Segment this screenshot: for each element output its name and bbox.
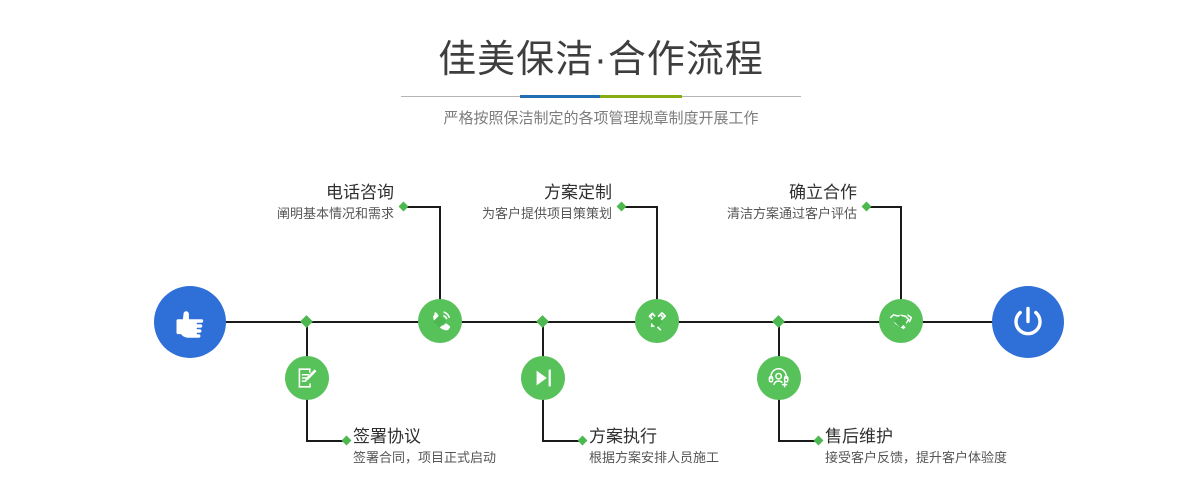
step-label-phone-consultation: 电话咨询 阐明基本情况和需求 [140,182,394,224]
step-desc: 根据方案安排人员施工 [589,448,719,468]
divider-segment-green [600,95,682,98]
process-timeline: 电话咨询 阐明基本情况和需求 签署协议 签署合同，项目正式启动 [0,150,1202,502]
step-label-after-sales: 售后维护 接受客户反馈，提升客户体验度 [825,426,1007,468]
step-label-establish-cooperation: 确立合作 清洁方案通过客户评估 [603,182,857,224]
step-title: 确立合作 [603,182,857,204]
power-icon [1007,301,1049,343]
cooperation-process-infographic: 佳美保洁·合作流程 严格按照保洁制定的各项管理规章制度开展工作 [0,0,1202,502]
step-title: 签署协议 [353,426,496,448]
step-label-plan-execution: 方案执行 根据方案安排人员施工 [589,426,719,468]
step-icon-after-sales[interactable] [757,356,801,400]
label-node-step-6 [814,436,824,446]
axis-node-step-6 [772,315,785,328]
axis-node-step-2 [300,315,313,328]
label-node-step-2 [342,436,352,446]
customer-service-icon [766,365,792,391]
axis-node-step-4 [536,315,549,328]
timeline-end-marker [992,286,1064,358]
page-title: 佳美保洁·合作流程 [0,36,1202,84]
divider-line-right [682,96,801,97]
step-desc: 为客户提供项目策策划 [358,204,612,224]
step-label-plan-customization: 方案定制 为客户提供项目策策划 [358,182,612,224]
timeline-start-marker [154,286,226,358]
step-title: 售后维护 [825,426,1007,448]
step-icon-sign-agreement[interactable] [285,356,329,400]
step-title: 方案执行 [589,426,719,448]
play-execute-icon [530,365,556,391]
label-node-step-5 [862,202,872,212]
label-node-step-4 [578,436,588,446]
page-subtitle: 严格按照保洁制定的各项管理规章制度开展工作 [0,107,1202,131]
step-desc: 接受客户反馈，提升客户体验度 [825,448,1007,468]
step-desc: 阐明基本情况和需求 [140,204,394,224]
step-title: 方案定制 [358,182,612,204]
divider-segment-blue [520,95,600,98]
connector-arm-step-4 [542,440,582,442]
step-desc: 签署合同，项目正式启动 [353,448,496,468]
document-edit-icon [294,365,320,391]
step-desc: 清洁方案通过客户评估 [603,204,857,224]
pointing-hand-icon [170,302,210,342]
step-label-sign-agreement: 签署协议 签署合同，项目正式启动 [353,426,496,468]
connector-arm-step-2 [306,440,346,442]
divider-line-left [401,96,520,97]
connector-arm-step-6 [778,440,818,442]
step-icon-plan-execution[interactable] [521,356,565,400]
step-title: 电话咨询 [140,182,394,204]
title-divider [401,95,801,98]
header: 佳美保洁·合作流程 严格按照保洁制定的各项管理规章制度开展工作 [0,0,1202,150]
